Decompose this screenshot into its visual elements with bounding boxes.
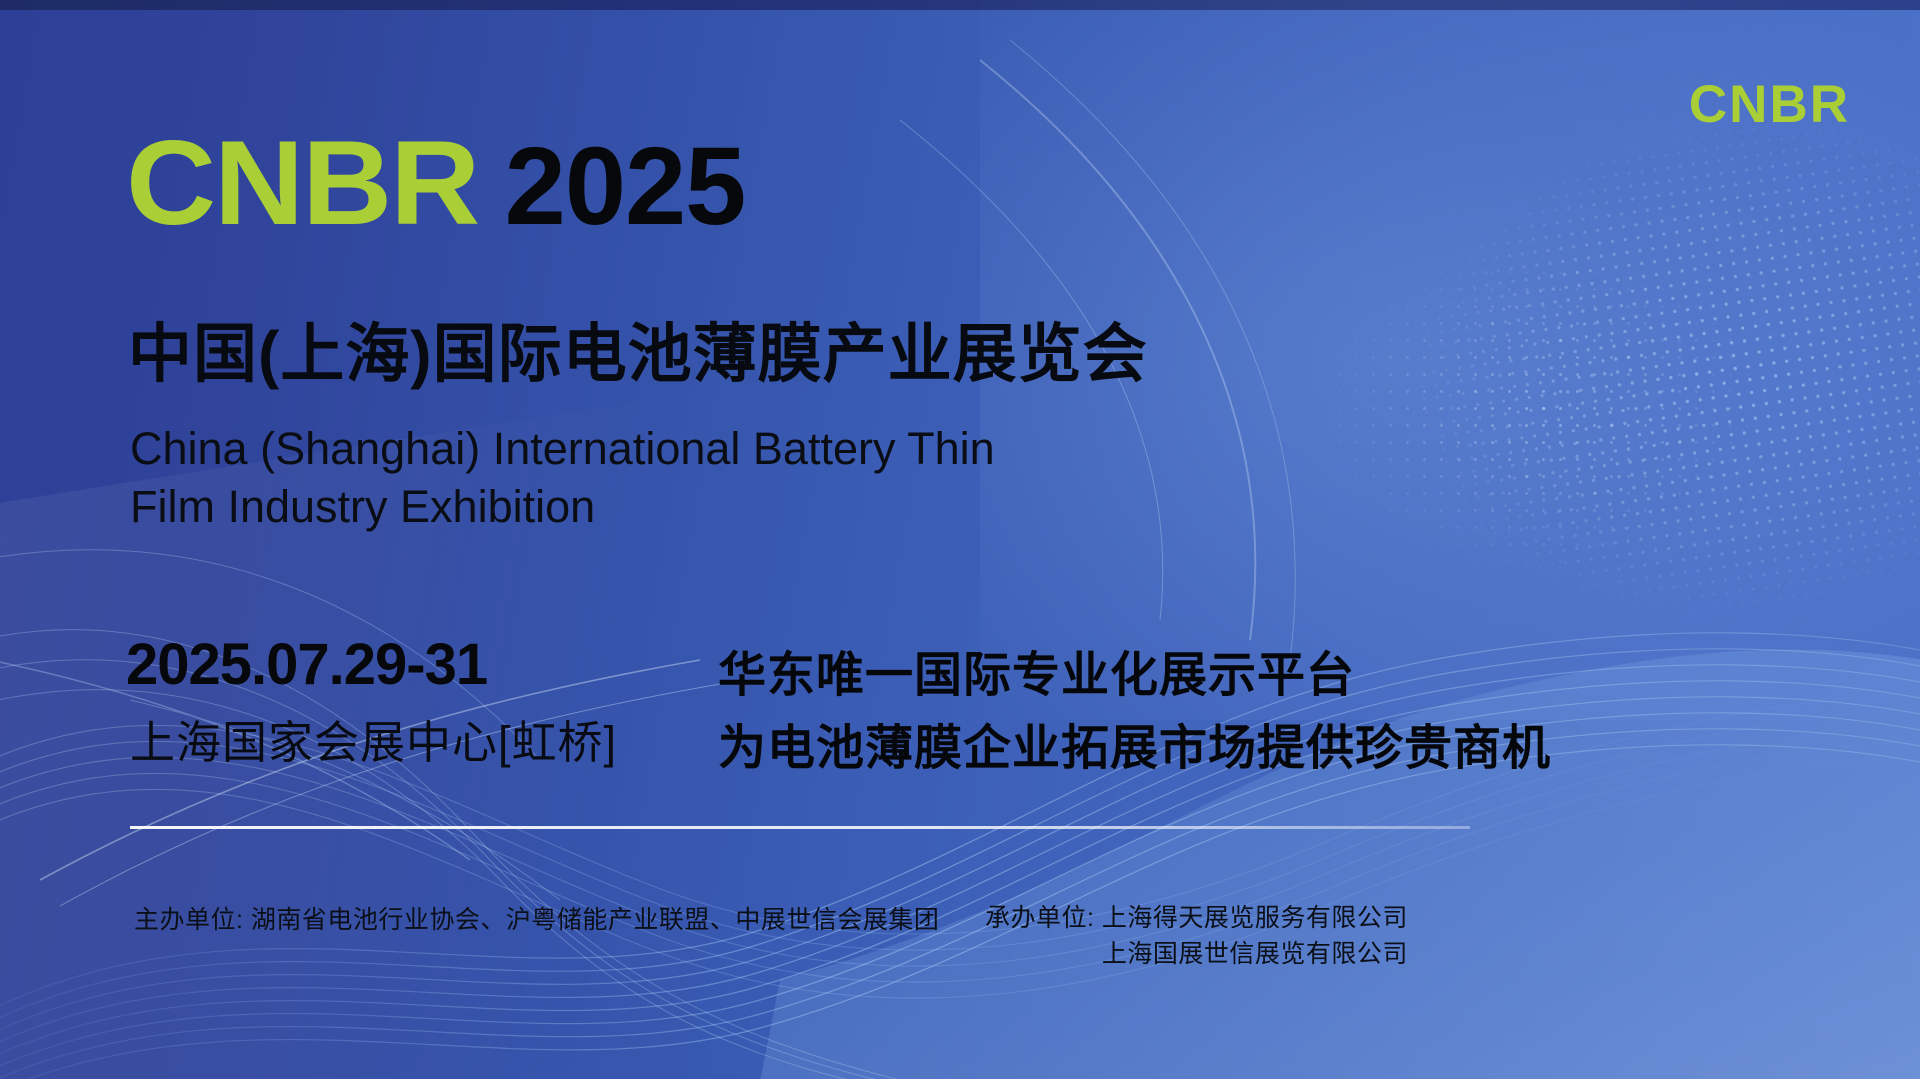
host-organizations: 主办单位: 湖南省电池行业协会、沪粤储能产业联盟、中展世信会展集团 — [134, 900, 939, 936]
co-organizer-line1: 承办单位: 上海得天展览服务有限公司 — [985, 900, 1408, 936]
poster-canvas: CNBR CNBR 2025 中国(上海)国际电池薄膜产业展览会 China (… — [0, 0, 1920, 1079]
footer-block: 主办单位: 湖南省电池行业协会、沪粤储能产业联盟、中展世信会展集团 承办单位: … — [0, 0, 1920, 1079]
co-organizer-organizations: 承办单位: 上海得天展览服务有限公司 上海国展世信展览有限公司 — [985, 900, 1408, 973]
poster-content: CNBR CNBR 2025 中国(上海)国际电池薄膜产业展览会 China (… — [0, 0, 1920, 1079]
co-organizer-line2: 上海国展世信展览有限公司 — [985, 936, 1408, 972]
